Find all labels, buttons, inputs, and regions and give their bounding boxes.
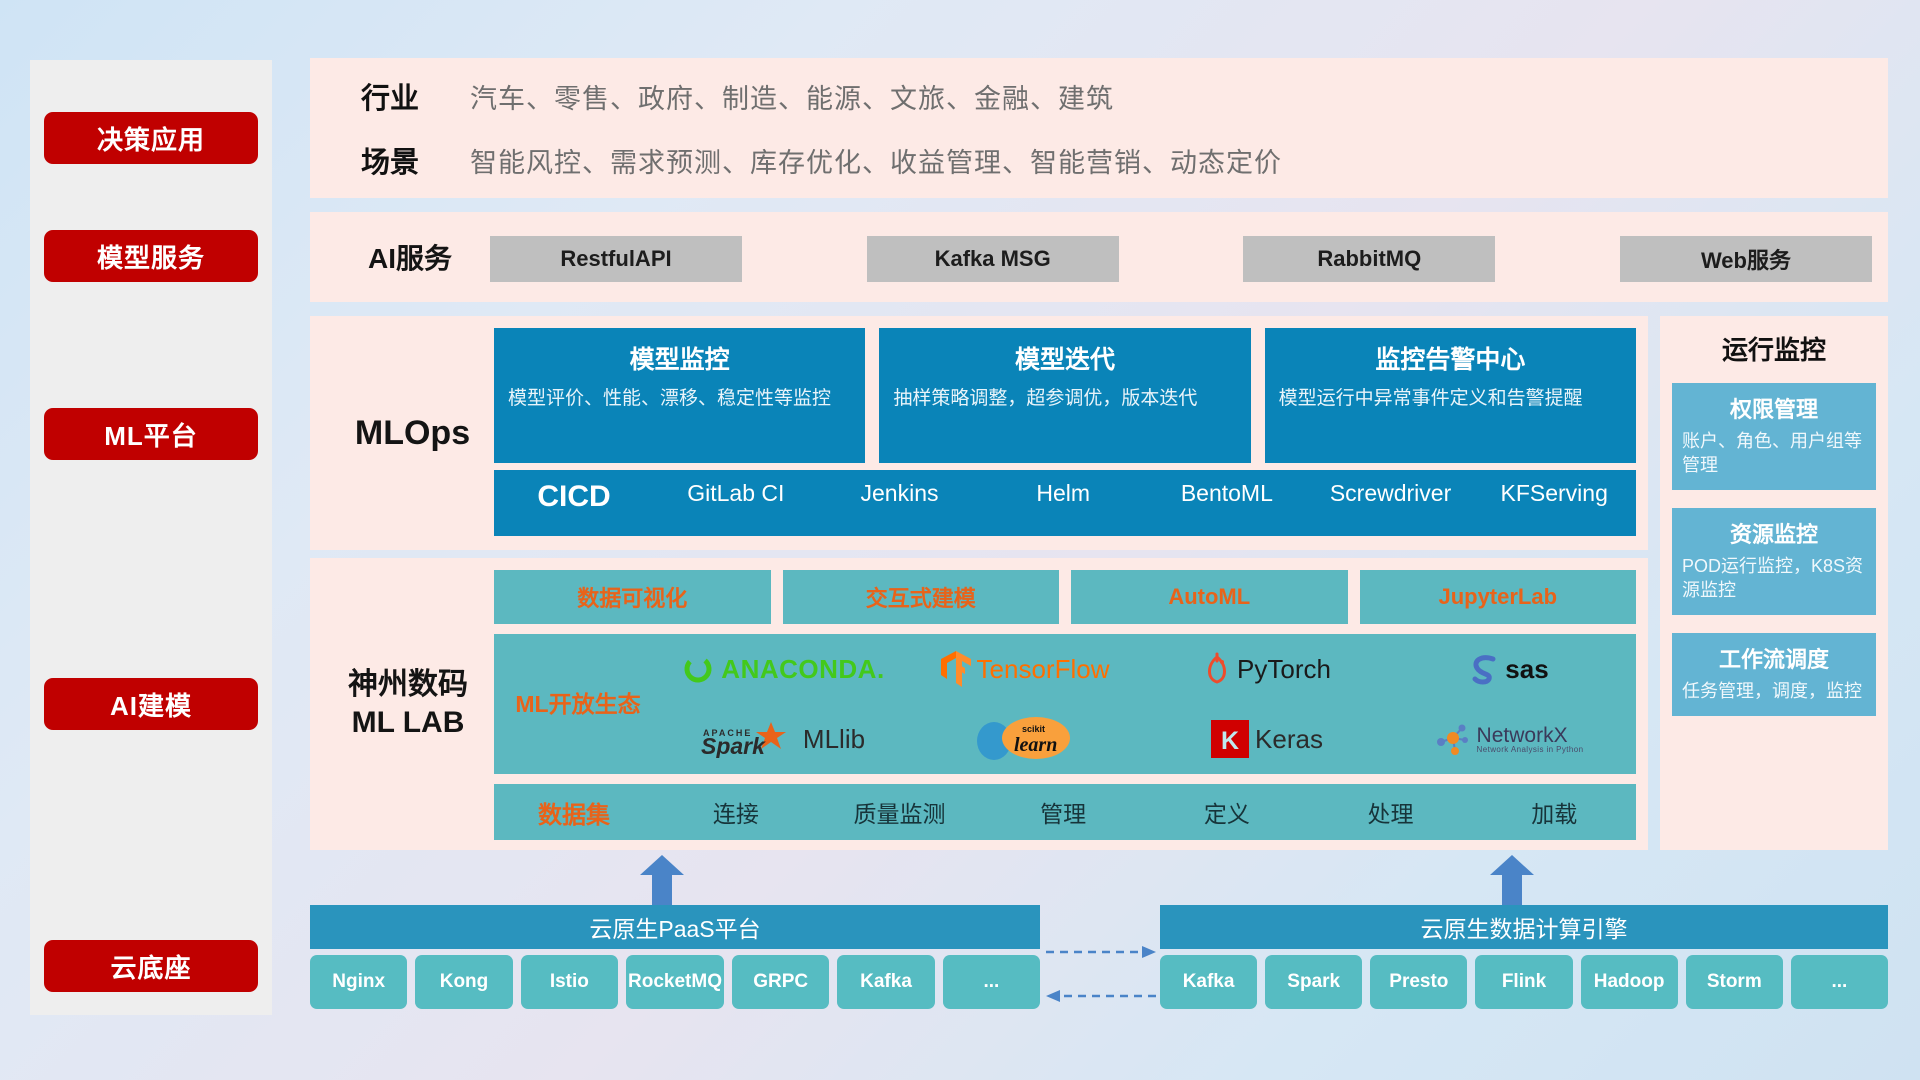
bidirectional-dashed-connector [1046, 938, 1156, 1008]
rail-badge-decision-app[interactable]: 决策应用 [44, 112, 258, 164]
runtime-monitoring-title: 运行监控 [1660, 316, 1888, 367]
card-title: 模型监控 [508, 340, 851, 376]
ai-service-label: AI服务 [330, 212, 490, 302]
card-desc: 模型评价、性能、漂移、稳定性等监控 [508, 386, 851, 412]
svg-text:learn: learn [1014, 734, 1057, 756]
industry-key-label: 行业 [310, 75, 470, 117]
ai-service-chip-restfulapi[interactable]: RestfulAPI [490, 236, 742, 282]
ai-service-chip-rabbitmq[interactable]: RabbitMQ [1243, 236, 1495, 282]
card-desc: 模型运行中异常事件定义和告警提醒 [1279, 386, 1622, 412]
engine-chip-kafka[interactable]: Kafka [1160, 955, 1257, 1009]
tensorflow-mark-icon [941, 651, 971, 687]
mlops-card-alert-center[interactable]: 监控告警中心 模型运行中异常事件定义和告警提醒 [1265, 328, 1636, 463]
engine-chip-hadoop[interactable]: Hadoop [1581, 955, 1678, 1009]
card-desc: 账户、角色、用户组等管理 [1682, 430, 1866, 478]
engine-chip-presto[interactable]: Presto [1370, 955, 1467, 1009]
dataset-label: 数据集 [494, 795, 654, 830]
cicd-item-helm[interactable]: Helm [981, 480, 1145, 506]
ml-open-ecosystem-panel: ML开放生态 ANACONDA. TensorFlow PyTorch [494, 634, 1636, 774]
networkx-logo-tagline: Network Analysis in Python [1477, 746, 1584, 754]
ml-lab-tool-list: 数据可视化 交互式建模 AutoML JupyterLab [494, 570, 1636, 624]
sas-swirl-icon [1469, 653, 1499, 685]
tool-chip-interactive-modeling[interactable]: 交互式建模 [783, 570, 1060, 624]
ml-lab-label-line2: ML LAB [352, 704, 465, 742]
industry-row: 行业 汽车、零售、政府、制造、能源、文旅、金融、建筑 [310, 75, 1888, 117]
ecosystem-logo-grid: ANACONDA. TensorFlow PyTorch sas [662, 634, 1636, 774]
mllib-logo-text: MLlib [803, 724, 865, 755]
ai-service-chip-list: RestfulAPI Kafka MSG RabbitMQ Web服务 [490, 236, 1872, 282]
dataset-strip: 数据集 连接 质量监测 管理 定义 处理 加载 [494, 784, 1636, 840]
industry-value-text: 汽车、零售、政府、制造、能源、文旅、金融、建筑 [470, 77, 1114, 116]
rail-badge-cloud-base[interactable]: 云底座 [44, 940, 258, 992]
sas-logo: sas [1469, 653, 1548, 685]
monitor-card-resource[interactable]: 资源监控 POD运行监控，K8S资源监控 [1672, 508, 1876, 615]
rail-badge-ai-modeling[interactable]: AI建模 [44, 678, 258, 730]
monitor-card-permission[interactable]: 权限管理 账户、角色、用户组等管理 [1672, 383, 1876, 490]
dataset-item-manage[interactable]: 管理 [981, 795, 1145, 829]
anaconda-logo: ANACONDA. [681, 652, 884, 686]
card-title: 资源监控 [1682, 517, 1866, 549]
rail-badge-ml-platform[interactable]: ML平台 [44, 408, 258, 460]
up-arrow-right-icon [1490, 855, 1534, 905]
dataset-item-quality-monitor[interactable]: 质量监测 [818, 795, 982, 829]
apache-spark-mark-icon: APACHE Spark [701, 720, 797, 758]
spark-mllib-logo: APACHE Spark MLlib [701, 720, 865, 758]
mlops-card-model-monitoring[interactable]: 模型监控 模型评价、性能、漂移、稳定性等监控 [494, 328, 865, 463]
svg-text:K: K [1221, 727, 1239, 755]
cloud-native-paas-header: 云原生PaaS平台 [310, 905, 1040, 949]
svg-text:Spark: Spark [701, 733, 766, 758]
cicd-label: CICD [494, 480, 654, 514]
anaconda-logo-text: ANACONDA. [721, 654, 884, 685]
mlops-label: MLOps [330, 316, 495, 550]
mlops-card-model-iteration[interactable]: 模型迭代 抽样策略调整，超参调优，版本迭代 [879, 328, 1250, 463]
dataset-item-process[interactable]: 处理 [1309, 795, 1473, 829]
card-title: 权限管理 [1682, 392, 1866, 424]
scikit-learn-mark-icon: scikit learn [974, 716, 1076, 762]
ml-lab-label: 神州数码 ML LAB [318, 558, 498, 850]
keras-logo-text: Keras [1255, 724, 1323, 755]
pytorch-logo: PyTorch [1203, 652, 1331, 686]
ml-lab-label-line1: 神州数码 [348, 666, 468, 704]
paas-chip-more[interactable]: ... [943, 955, 1040, 1009]
runtime-monitoring-panel: 运行监控 权限管理 账户、角色、用户组等管理 资源监控 POD运行监控，K8S资… [1660, 316, 1888, 850]
paas-chip-rocketmq[interactable]: RocketMQ [626, 955, 724, 1009]
paas-chip-kafka[interactable]: Kafka [837, 955, 934, 1009]
networkx-graph-icon [1435, 722, 1471, 756]
dataset-item-define[interactable]: 定义 [1145, 795, 1309, 829]
scenario-key-label: 场景 [310, 139, 470, 181]
up-arrow-left-icon [640, 855, 684, 905]
engine-chip-flink[interactable]: Flink [1475, 955, 1572, 1009]
rail-badge-model-service[interactable]: 模型服务 [44, 230, 258, 282]
cicd-strip: CICD GitLab CI Jenkins Helm BentoML Scre… [494, 470, 1636, 536]
keras-logo: K Keras [1211, 720, 1323, 758]
tool-chip-data-visualization[interactable]: 数据可视化 [494, 570, 771, 624]
svg-text:scikit: scikit [1022, 724, 1045, 734]
industry-scenario-band: 行业 汽车、零售、政府、制造、能源、文旅、金融、建筑 场景 智能风控、需求预测、… [310, 58, 1888, 198]
monitor-card-list: 权限管理 账户、角色、用户组等管理 资源监控 POD运行监控，K8S资源监控 工… [1660, 367, 1888, 716]
mlops-card-list: 模型监控 模型评价、性能、漂移、稳定性等监控 模型迭代 抽样策略调整，超参调优，… [494, 328, 1636, 463]
ai-service-chip-web[interactable]: Web服务 [1620, 236, 1872, 282]
scikit-learn-logo: scikit learn [974, 716, 1076, 762]
sas-logo-text: sas [1505, 654, 1548, 685]
cicd-item-screwdriver[interactable]: Screwdriver [1309, 480, 1473, 506]
networkx-logo: NetworkX Network Analysis in Python [1435, 722, 1584, 756]
cloud-native-data-engine-chip-list: Kafka Spark Presto Flink Hadoop Storm ..… [1160, 955, 1888, 1009]
pytorch-logo-text: PyTorch [1237, 654, 1331, 685]
scenario-value-text: 智能风控、需求预测、库存优化、收益管理、智能营销、动态定价 [470, 141, 1282, 180]
card-title: 工作流调度 [1682, 642, 1866, 674]
card-desc: 任务管理，调度，监控 [1682, 680, 1866, 704]
tool-chip-automl[interactable]: AutoML [1071, 570, 1348, 624]
tensorflow-logo: TensorFlow [941, 651, 1110, 687]
engine-chip-spark[interactable]: Spark [1265, 955, 1362, 1009]
left-layer-rail: 决策应用 模型服务 ML平台 AI建模 云底座 [30, 60, 272, 1015]
networkx-logo-text: NetworkX [1477, 725, 1584, 746]
cicd-item-gitlab-ci[interactable]: GitLab CI [654, 480, 818, 506]
cicd-item-bentoml[interactable]: BentoML [1145, 480, 1309, 506]
card-title: 监控告警中心 [1279, 340, 1622, 376]
anaconda-mark-icon [681, 652, 715, 686]
paas-chip-grpc[interactable]: GRPC [732, 955, 829, 1009]
paas-chip-istio[interactable]: Istio [521, 955, 618, 1009]
pytorch-flame-icon [1203, 652, 1231, 686]
engine-chip-more[interactable]: ... [1791, 955, 1888, 1009]
cicd-item-kfserving[interactable]: KFServing [1472, 480, 1636, 506]
industry-rows: 行业 汽车、零售、政府、制造、能源、文旅、金融、建筑 场景 智能风控、需求预测、… [310, 58, 1888, 198]
cloud-native-paas-chip-list: Nginx Kong Istio RocketMQ GRPC Kafka ... [310, 955, 1040, 1009]
paas-chip-kong[interactable]: Kong [415, 955, 512, 1009]
cloud-native-data-engine-group: 云原生数据计算引擎 Kafka Spark Presto Flink Hadoo… [1160, 905, 1888, 1025]
dataset-item-load[interactable]: 加载 [1472, 795, 1636, 829]
dataset-item-connect[interactable]: 连接 [654, 795, 818, 829]
paas-chip-nginx[interactable]: Nginx [310, 955, 407, 1009]
card-desc: POD运行监控，K8S资源监控 [1682, 555, 1866, 603]
tool-chip-jupyterlab[interactable]: JupyterLab [1360, 570, 1637, 624]
cloud-native-data-engine-header: 云原生数据计算引擎 [1160, 905, 1888, 949]
card-desc: 抽样策略调整，超参调优，版本迭代 [893, 386, 1236, 412]
keras-mark-icon: K [1211, 720, 1249, 758]
card-title: 模型迭代 [893, 340, 1236, 376]
cicd-item-jenkins[interactable]: Jenkins [818, 480, 982, 506]
tensorflow-logo-text: TensorFlow [977, 654, 1110, 685]
cloud-native-paas-group: 云原生PaaS平台 Nginx Kong Istio RocketMQ GRPC… [310, 905, 1040, 1025]
monitor-card-workflow[interactable]: 工作流调度 任务管理，调度，监控 [1672, 633, 1876, 716]
ai-service-chip-kafka-msg[interactable]: Kafka MSG [867, 236, 1119, 282]
engine-chip-storm[interactable]: Storm [1686, 955, 1783, 1009]
scenario-row: 场景 智能风控、需求预测、库存优化、收益管理、智能营销、动态定价 [310, 139, 1888, 181]
ml-open-ecosystem-label: ML开放生态 [494, 690, 662, 719]
